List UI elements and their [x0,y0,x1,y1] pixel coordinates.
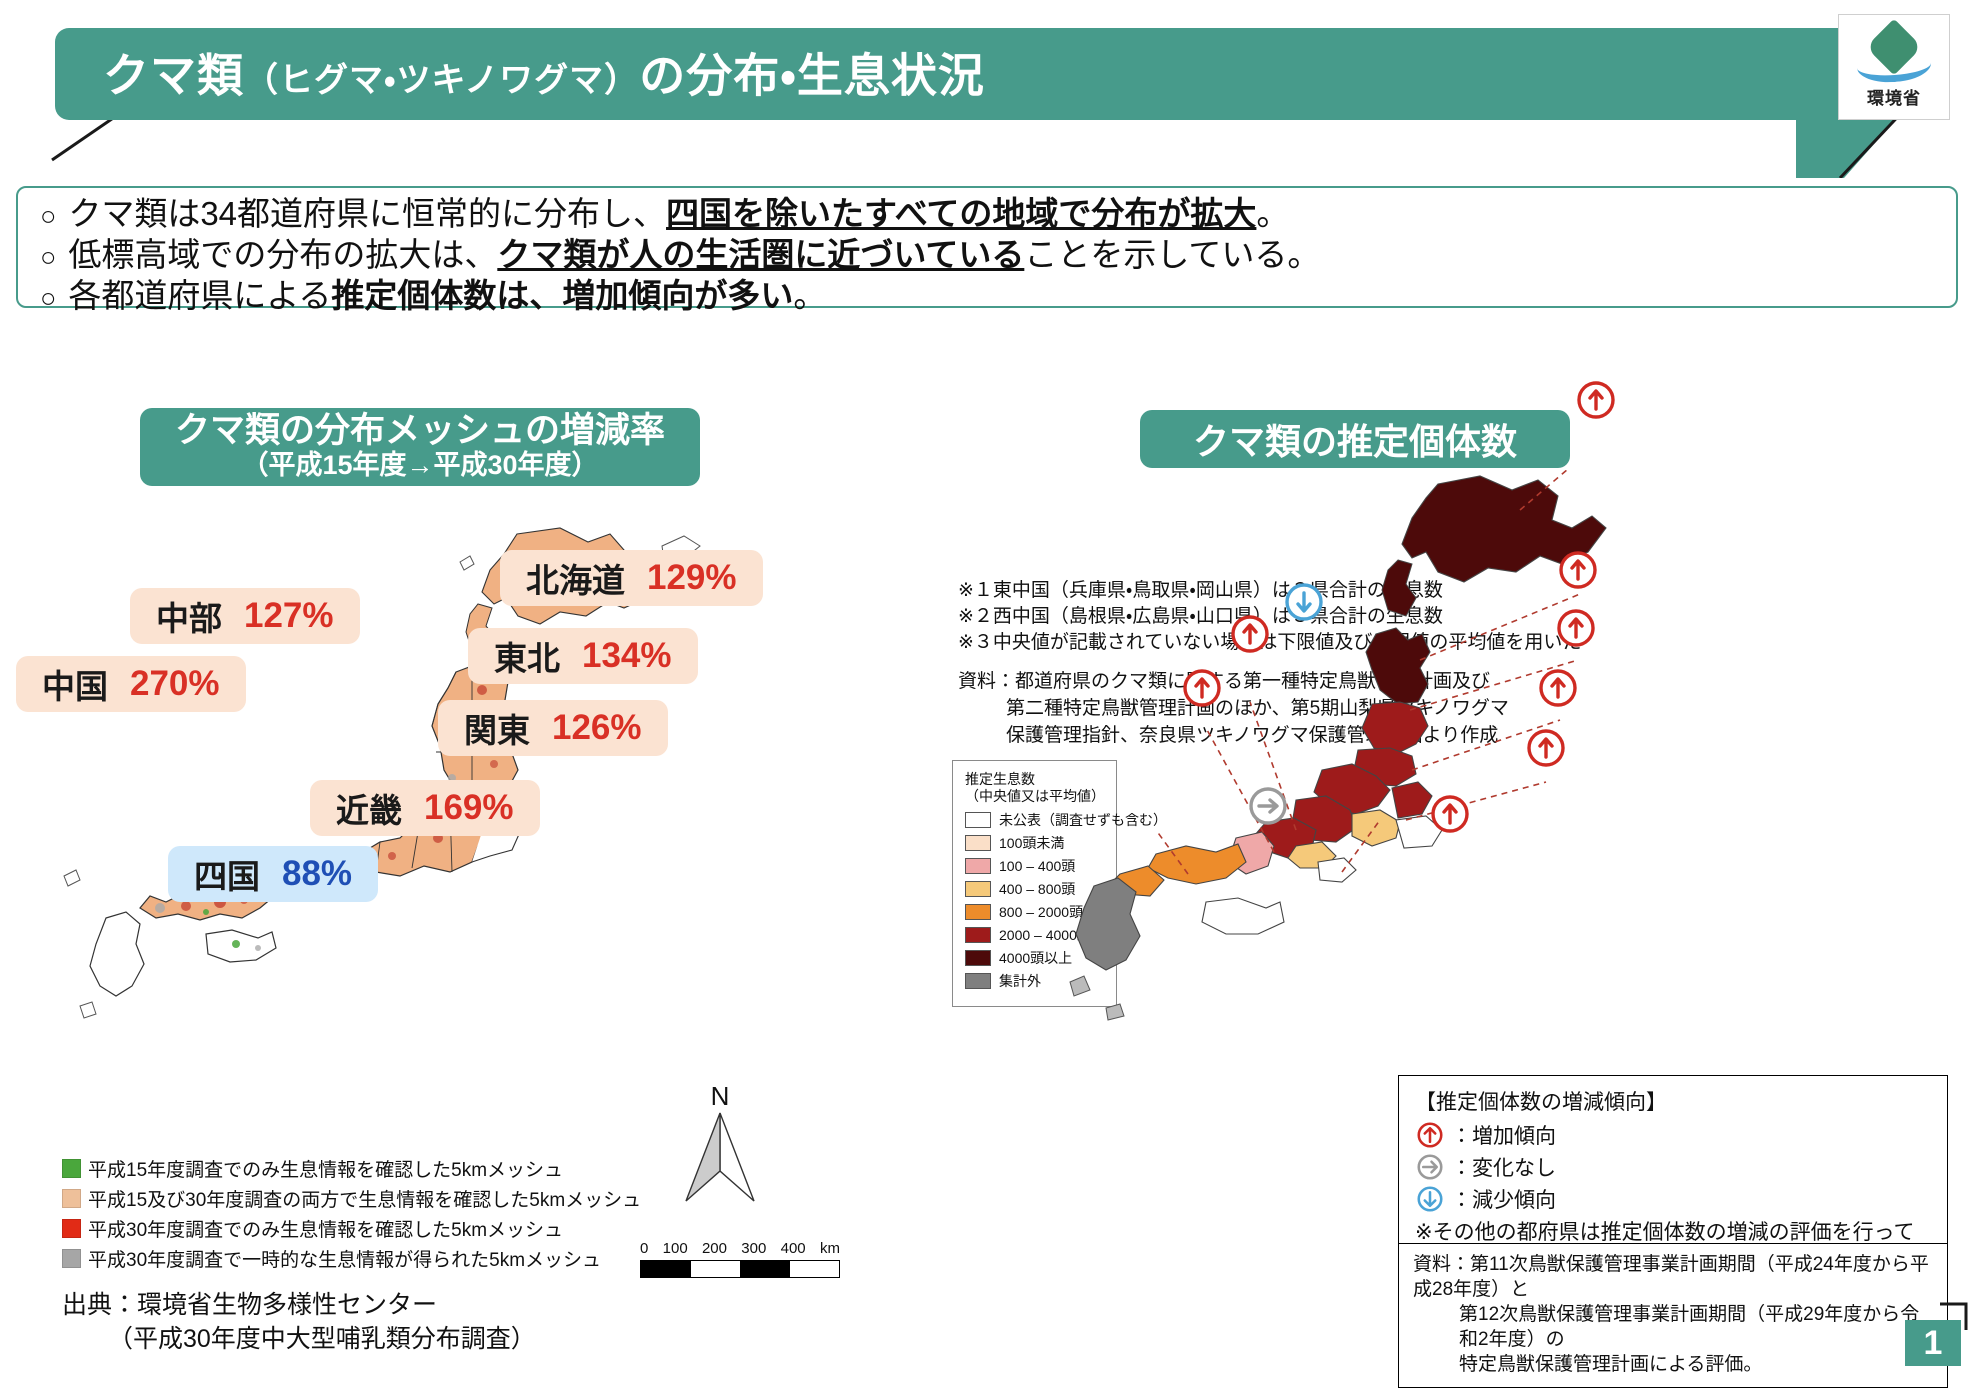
scale-tick: 400 [781,1240,806,1257]
arrow-down-circle-icon [1415,1184,1445,1214]
mesh-legend-item: 平成15及び30年度調査の両方で生息情報を確認した5kmメッシュ [62,1185,582,1212]
legend-swatch-red [62,1219,81,1238]
mesh-legend-label: 平成15年度調査でのみ生息情報を確認した5kmメッシュ [88,1155,563,1182]
callout-region-value: 127% [244,596,334,636]
left-map-title-line2: （平成15年度→平成30年度） [241,449,598,481]
trend-legend-item-nochange: ：変化なし [1415,1152,1933,1182]
callout-region-name: 中部 [156,592,222,640]
scale-bar-ticks: 0 100 200 300 400 km [640,1240,840,1257]
right-map-reference-box: 資料：第11次鳥獣保護管理事業計画期間（平成24年度から平成28年度）と 第12… [1398,1243,1948,1388]
left-map-source: 出典：環境省生物多様性センター （平成30年度中大型哺乳類分布調査） [62,1288,536,1356]
bullet-item: ○ 低標高域での分布の拡大は、 クマ類が人の生活圏に近づいている ことを示してい… [40,236,1956,276]
ref-box-line3: 特定鳥獣保護管理計画による評価。 [1459,1352,1937,1377]
legend-swatch-green [62,1159,81,1178]
bullet-text-pre: クマ類は34都道府県に恒常的に分布し、 [68,195,666,233]
legend-swatch-unpublished [965,812,991,828]
legend-swatch-100-400 [965,858,991,874]
region-shikoku [206,930,276,962]
bullet-item: ○ 各都道府県による 推定個体数は、増加傾向が多い 。 [40,277,1956,317]
prefecture-tohoku-north [1366,628,1430,704]
prefecture-hokkaido [1382,476,1606,616]
bullet-item: ○ クマ類は34都道府県に恒常的に分布し、 四国を除いたすべての地域で分布が拡大… [40,195,1956,235]
legend-swatch-2000-4000 [965,927,991,943]
population-legend-label: 100頭未満 [999,833,1064,853]
callout-region-value: 134% [582,636,672,676]
source-line2: （平成30年度中大型哺乳類分布調査） [108,1322,536,1356]
callout-hokkaido: 北海道 129% [500,550,763,606]
callout-region-name: 東北 [494,632,560,680]
slide-page: クマ類（ヒグマ・ツキノワグマ）の分布・生息状況 環境省 ○ クマ類は34都道府県… [0,0,1984,1382]
ref-box-line2: 第12次鳥獣保護管理事業計画期間（平成29年度から令和2年度）の [1459,1302,1937,1352]
mesh-legend-label: 平成15及び30年度調査の両方で生息情報を確認した5kmメッシュ [88,1185,641,1212]
callout-kinki: 近畿 169% [310,780,540,836]
logo-swoosh-shape [1856,46,1932,84]
callout-region-value: 270% [130,664,220,704]
bullet-marker: ○ [40,197,56,235]
scale-tick: 100 [663,1240,688,1257]
trend-marker-increase-hokkaido [1579,383,1613,417]
left-map-title-pill: クマ類の分布メッシュの増減率 （平成15年度→平成30年度） [140,408,700,486]
bullet-text-emphasis: クマ類が人の生活圏に近づいている [497,236,1024,274]
callout-region-value: 169% [424,788,514,828]
callout-region-value: 88% [282,854,352,894]
north-arrow-icon [684,1109,756,1205]
trend-legend-label: ：変化なし [1451,1152,1556,1182]
bullet-text-pre: 各都道府県による [68,277,331,315]
page-title-main: クマ類 [103,50,244,102]
bullet-text-post: 。 [1256,195,1289,233]
bullet-text-emphasis: 四国を除いたすべての地域で分布が拡大 [666,195,1256,233]
page-title: クマ類（ヒグマ・ツキノワグマ）の分布・生息状況 [103,40,985,106]
left-map-title-line1: クマ類の分布メッシュの増減率 [175,413,665,449]
prefecture-kyushu [1070,878,1140,1020]
callout-tohoku: 東北 134% [468,628,698,684]
japan-estimated-population-map [1060,470,1680,1090]
page-number: 1 [1905,1320,1961,1366]
population-legend-label: 集計外 [999,971,1041,991]
legend-swatch-400-800 [965,881,991,897]
mesh-legend-item: 平成30年度調査で一時的な生息情報が得られた5kmメッシュ [62,1245,582,1272]
trend-legend-label: ：減少傾向 [1451,1184,1556,1214]
callout-region-name: 近畿 [336,784,402,832]
summary-bullets-box: ○ クマ類は34都道府県に恒常的に分布し、 四国を除いたすべての地域で分布が拡大… [16,186,1958,308]
callout-region-name: 関東 [464,704,530,752]
callout-shikoku: 四国 88% [168,846,378,902]
legend-swatch-over4000 [965,950,991,966]
scale-bar: 0 100 200 300 400 km [640,1240,840,1278]
trend-legend-item-increase: ：増加傾向 [1415,1120,1933,1150]
trend-legend-item-decrease: ：減少傾向 [1415,1184,1933,1214]
source-line1: 出典：環境省生物多様性センター [62,1291,437,1319]
bullet-marker: ○ [40,279,56,317]
callout-region-value: 129% [647,558,737,598]
north-arrow-label: N [655,1085,785,1107]
arrow-right-circle-icon [1415,1152,1445,1182]
callout-kanto: 関東 126% [438,700,668,756]
ref-box-line1: 資料：第11次鳥獣保護管理事業計画期間（平成24年度から平成28年度）と [1413,1254,1929,1300]
page-title-tail: の分布・生息状況 [639,50,985,102]
callout-region-value: 126% [552,708,642,748]
callout-region-name: 北海道 [526,554,625,602]
legend-swatch-excluded [965,973,991,989]
mesh-legend-label: 平成30年度調査で一時的な生息情報が得られた5kmメッシュ [88,1245,601,1272]
callout-region-name: 四国 [194,850,260,898]
region-kyushu [64,870,144,1018]
legend-swatch-under100 [965,835,991,851]
legend-swatch-gray [62,1249,81,1268]
mesh-legend-item: 平成30年度調査でのみ生息情報を確認した5kmメッシュ [62,1215,582,1242]
mesh-legend: 平成15年度調査でのみ生息情報を確認した5kmメッシュ 平成15及び30年度調査… [62,1155,582,1275]
ministry-logo-label: 環境省 [1867,84,1921,109]
scale-tick: 300 [741,1240,766,1257]
right-map-title-pill: クマ類の推定個体数 [1140,410,1570,468]
scale-bar-graphic [640,1260,840,1278]
scale-tick: 0 [640,1240,648,1257]
page-header: クマ類（ヒグマ・ツキノワグマ）の分布・生息状況 環境省 [0,0,1984,150]
scale-unit: km [820,1240,840,1257]
bullet-marker: ○ [40,238,56,276]
north-arrow: N [655,1085,785,1205]
bullet-text-post: ことを示している。 [1024,236,1320,274]
legend-swatch-800-2000 [965,904,991,920]
page-title-paren: （ヒグマ・ツキノワグマ） [244,62,639,100]
ministry-logo: 環境省 [1838,14,1950,120]
callout-region-name: 中国 [42,660,108,708]
arrow-up-circle-icon [1415,1120,1445,1150]
header-banner: クマ類（ヒグマ・ツキノワグマ）の分布・生息状況 [55,28,1855,120]
bullet-text-post: 。 [793,277,826,315]
trend-legend-title: 【推定個体数の増減傾向】 [1415,1086,1933,1116]
legend-swatch-tan [62,1189,81,1208]
mesh-legend-item: 平成15年度調査でのみ生息情報を確認した5kmメッシュ [62,1155,582,1182]
callout-chugoku: 中国 270% [16,656,246,712]
bullet-text-pre: 低標高域での分布の拡大は、 [68,236,497,274]
callout-chubu: 中部 127% [130,588,360,644]
mesh-legend-label: 平成30年度調査でのみ生息情報を確認した5kmメッシュ [88,1215,563,1242]
prefecture-shikoku [1202,898,1284,934]
right-map-title: クマ類の推定個体数 [1193,413,1517,465]
bullet-text-emphasis: 推定個体数は、増加傾向が多い [331,277,793,315]
scale-tick: 200 [702,1240,727,1257]
ministry-logo-icon [1855,25,1933,83]
trend-legend-label: ：増加傾向 [1451,1120,1556,1150]
